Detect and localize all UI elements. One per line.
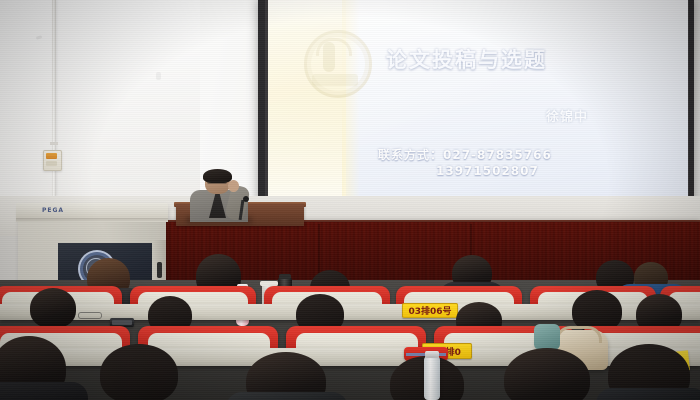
conduit-joint bbox=[50, 142, 58, 145]
wall-switch-rocker[interactable] bbox=[46, 161, 57, 166]
podium-front-lip bbox=[16, 218, 168, 222]
slide-contact-line-1: 联系方式：027-87835766 bbox=[378, 146, 552, 163]
student-shoulders bbox=[0, 382, 88, 400]
wall-switch-indicator bbox=[46, 153, 57, 159]
emblem-base-detail bbox=[312, 74, 358, 86]
student-head bbox=[30, 288, 76, 328]
podium-brand-label: PEGA bbox=[42, 207, 64, 214]
eyeglasses-on-desk[interactable] bbox=[78, 312, 102, 319]
wall-scuff-mark-2 bbox=[156, 72, 161, 80]
slide-contact-line-2: 13971502807 bbox=[436, 164, 539, 178]
slide-author-name: 徐锦中 bbox=[546, 106, 588, 125]
emblem-center-detail bbox=[323, 42, 335, 72]
slide-title: 论文投稿与选题 bbox=[386, 44, 547, 74]
presenter-glasses-icon bbox=[207, 180, 227, 184]
seat-number-tag: 03排06号 bbox=[402, 303, 458, 318]
student-head-foreground bbox=[100, 344, 178, 400]
clear-water-bottle[interactable] bbox=[424, 356, 440, 400]
handbag-strap bbox=[556, 326, 602, 343]
projection-screen-surface: 论文投稿与选题 徐锦中 联系方式：027-87835766 1397150280… bbox=[268, 0, 688, 205]
teal-pouch[interactable] bbox=[534, 324, 560, 350]
presenter-hand bbox=[228, 180, 239, 192]
microphone-head-icon bbox=[243, 196, 249, 202]
student-shoulders bbox=[596, 388, 700, 400]
podium-handle[interactable] bbox=[157, 262, 162, 278]
thermos-cap bbox=[279, 274, 291, 279]
clear-bottle-cap bbox=[425, 351, 439, 358]
lecture-hall-photo: 论文投稿与选题 徐锦中 联系方式：027-87835766 1397150280… bbox=[0, 0, 700, 400]
phone-screen bbox=[112, 320, 132, 325]
student-shoulders bbox=[226, 392, 348, 400]
